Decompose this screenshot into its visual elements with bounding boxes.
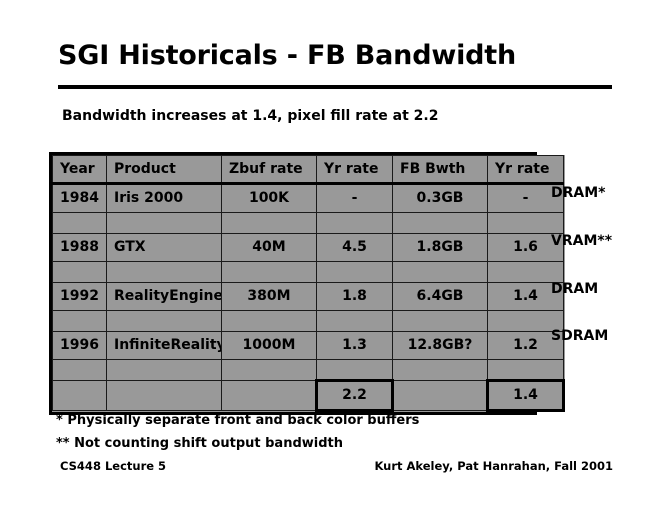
footnote-double-asterisk: ** Not counting shift output bandwidth: [56, 436, 343, 451]
memory-label-1992: DRAM: [551, 281, 598, 297]
cell-product: RealityEngine: [107, 283, 222, 311]
table-row: 1992 RealityEngine 380M 1.8 6.4GB 1.4: [53, 283, 564, 311]
summary-cell-zbuf: [222, 381, 317, 411]
table-row: 1988 GTX 40M 4.5 1.8GB 1.6: [53, 234, 564, 262]
cell-fb: 1.8GB: [393, 234, 488, 262]
footer-authors: Kurt Akeley, Pat Hanrahan, Fall 2001: [374, 459, 613, 473]
page-title: SGI Historicals - FB Bandwidth: [58, 40, 516, 71]
table-summary-row: 2.2 1.4: [53, 381, 564, 411]
column-header-fb-bwth: FB Bwth: [393, 156, 488, 184]
table-header-row: Year Product Zbuf rate Yr rate FB Bwth Y…: [53, 156, 564, 184]
cell-zbuf: 380M: [222, 283, 317, 311]
cell-fb: 0.3GB: [393, 184, 488, 213]
historicals-table: Year Product Zbuf rate Yr rate FB Bwth Y…: [49, 152, 537, 415]
table-spacer-row: [53, 311, 564, 332]
table-row: 1996 InfiniteReality 1000M 1.3 12.8GB? 1…: [53, 332, 564, 360]
summary-cell-fb: [393, 381, 488, 411]
table-spacer-row: [53, 262, 564, 283]
memory-label-1996: SDRAM: [551, 328, 608, 344]
cell-fb: 12.8GB?: [393, 332, 488, 360]
summary-cell-year: [53, 381, 107, 411]
summary-cell-product: [107, 381, 222, 411]
cell-yr-zbuf: -: [317, 184, 393, 213]
title-divider: [58, 85, 612, 89]
cell-year: 1984: [53, 184, 107, 213]
column-header-product: Product: [107, 156, 222, 184]
cell-year: 1988: [53, 234, 107, 262]
memory-label-1988: VRAM**: [551, 233, 612, 249]
cell-year: 1996: [53, 332, 107, 360]
column-header-zbuf-rate: Zbuf rate: [222, 156, 317, 184]
table-spacer-row: [53, 213, 564, 234]
cell-product: Iris 2000: [107, 184, 222, 213]
footnote-single-asterisk: * Physically separate front and back col…: [56, 413, 419, 428]
cell-product: InfiniteReality: [107, 332, 222, 360]
memory-label-1984: DRAM*: [551, 185, 606, 201]
table-spacer-row: [53, 360, 564, 381]
cell-yr-zbuf: 4.5: [317, 234, 393, 262]
subtitle: Bandwidth increases at 1.4, pixel fill r…: [62, 108, 438, 124]
column-header-yr-rate-zbuf: Yr rate: [317, 156, 393, 184]
summary-cell-yr-fb: 1.4: [488, 381, 564, 411]
cell-zbuf: 40M: [222, 234, 317, 262]
footer-lecture: CS448 Lecture 5: [60, 459, 166, 473]
table-row: 1984 Iris 2000 100K - 0.3GB -: [53, 184, 564, 213]
column-header-year: Year: [53, 156, 107, 184]
cell-zbuf: 100K: [222, 184, 317, 213]
column-header-yr-rate-fb: Yr rate: [488, 156, 564, 184]
cell-year: 1992: [53, 283, 107, 311]
cell-yr-zbuf: 1.3: [317, 332, 393, 360]
summary-cell-yr-zbuf: 2.2: [317, 381, 393, 411]
cell-fb: 6.4GB: [393, 283, 488, 311]
cell-yr-zbuf: 1.8: [317, 283, 393, 311]
cell-product: GTX: [107, 234, 222, 262]
cell-zbuf: 1000M: [222, 332, 317, 360]
